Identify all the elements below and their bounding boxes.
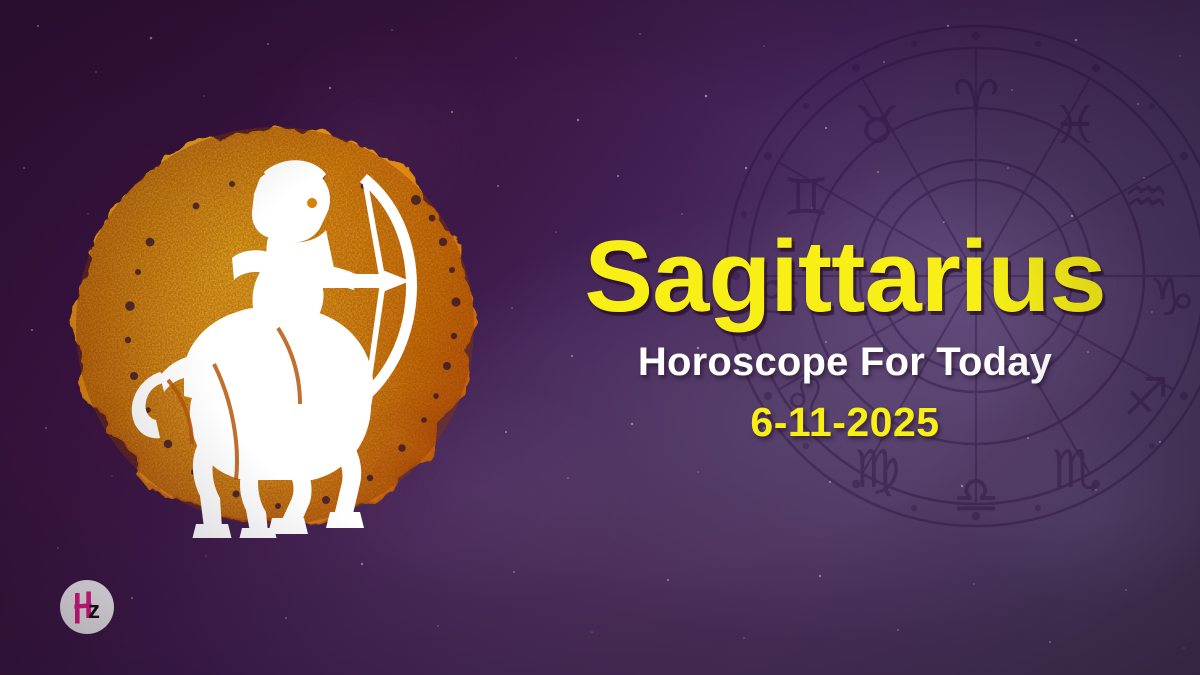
page-title: Sagittarius	[498, 228, 1192, 327]
brand-logo[interactable]: z	[58, 578, 116, 636]
banner-date: 6-11-2025	[505, 401, 1185, 444]
banner-subtitle: Horoscope For Today	[505, 341, 1185, 383]
horoscope-banner: ♈ ♉ ♊ ♋ ♌ ♍ ♎ ♏ ♐ ♑ ♒ ♓	[0, 0, 1200, 675]
logo-letter-z: z	[88, 597, 100, 624]
banner-text-block: Sagittarius Horoscope For Today 6-11-202…	[505, 228, 1185, 444]
sagittarius-emblem-icon	[64, 114, 486, 538]
